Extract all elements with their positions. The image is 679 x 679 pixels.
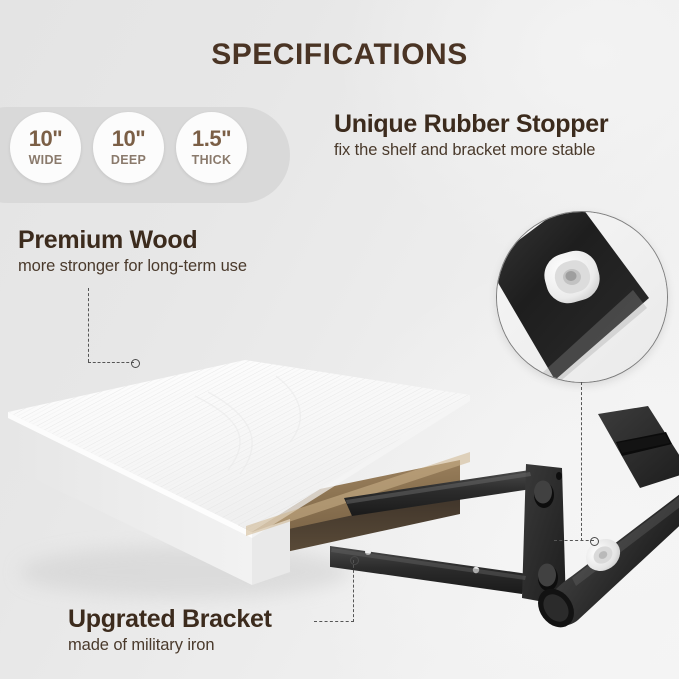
callout-upgraded-bracket: Upgrated Bracket made of military iron	[68, 605, 272, 655]
bracket-closeup-illustration	[520, 398, 679, 648]
spec-badge-group: 10" WIDE 10" DEEP 1.5" THICK	[10, 112, 247, 183]
callout-heading: Premium Wood	[18, 226, 247, 255]
spec-badge-label: DEEP	[111, 154, 146, 167]
spec-badge-wide: 10" WIDE	[10, 112, 81, 183]
callout-subtext: fix the shelf and bracket more stable	[334, 141, 608, 160]
leader-line-premium-wood-horizontal	[88, 362, 134, 363]
callout-subtext: more stronger for long-term use	[18, 257, 247, 276]
callout-rubber-stopper: Unique Rubber Stopper fix the shelf and …	[334, 110, 608, 160]
spec-badge-thick: 1.5" THICK	[176, 112, 247, 183]
callout-premium-wood: Premium Wood more stronger for long-term…	[18, 226, 247, 276]
page-title: SPECIFICATIONS	[0, 38, 679, 72]
spec-badge-deep: 10" DEEP	[93, 112, 164, 183]
spec-badge-value: 10"	[112, 128, 145, 150]
leader-line-stopper-horizontal	[554, 540, 594, 541]
leader-line-premium-wood-vertical	[88, 288, 89, 362]
spec-badge-label: THICK	[192, 154, 232, 167]
spec-badge-value: 1.5"	[192, 128, 231, 150]
callout-heading: Upgrated Bracket	[68, 605, 272, 634]
leader-line-bracket-vertical	[353, 560, 354, 622]
spec-badge-label: WIDE	[29, 154, 63, 167]
rubber-stopper-magnifier	[497, 212, 667, 382]
leader-line-bracket-horizontal	[314, 621, 354, 622]
leader-dot-premium-wood	[131, 359, 140, 368]
spec-badge-value: 10"	[29, 128, 62, 150]
callout-heading: Unique Rubber Stopper	[334, 110, 608, 139]
callout-subtext: made of military iron	[68, 636, 272, 655]
leader-dot-bracket	[350, 556, 359, 565]
specifications-infographic: SPECIFICATIONS 10" WIDE 10" DEEP 1.5" TH…	[0, 0, 679, 679]
leader-line-stopper-vertical	[581, 382, 582, 541]
leader-dot-stopper	[590, 537, 599, 546]
